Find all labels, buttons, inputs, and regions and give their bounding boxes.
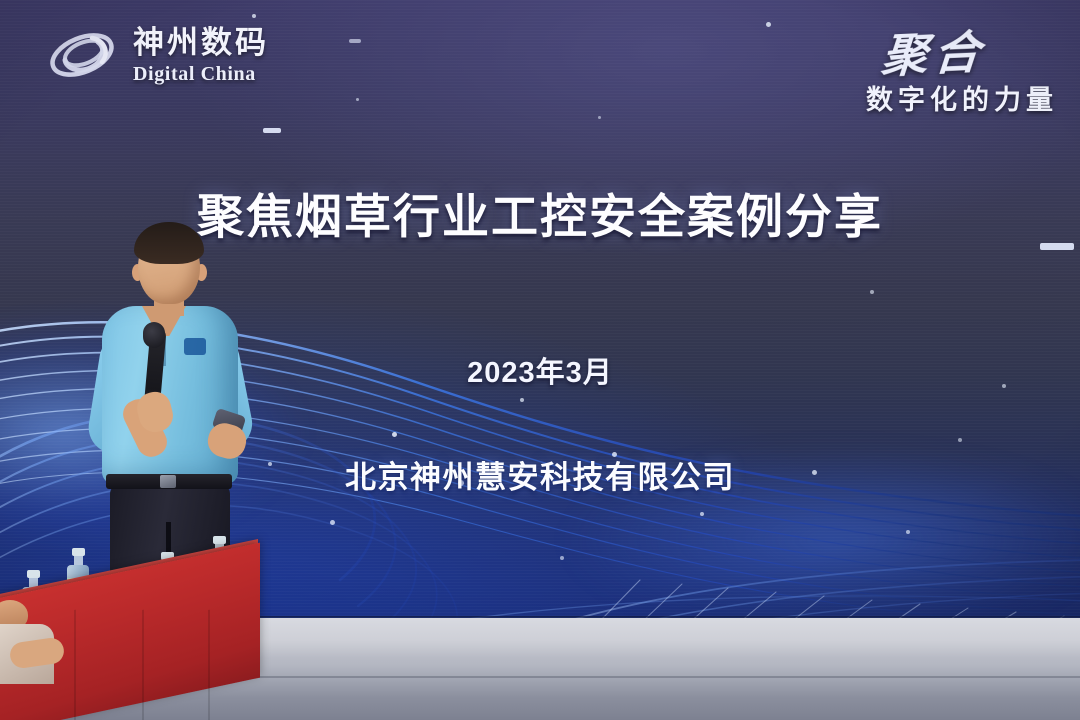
brand-name-cn: 神州数码: [133, 27, 269, 58]
wall-light-strip: [349, 39, 361, 43]
wall-light-strip: [263, 128, 281, 133]
presenter-belt-buckle: [160, 475, 176, 488]
bottle-cap: [27, 570, 40, 578]
digital-china-swirl-icon: [46, 22, 122, 88]
bokeh-particle: [598, 116, 601, 119]
bokeh-particle: [252, 14, 256, 18]
table-cloth-fold: [142, 610, 144, 720]
conference-stage-photo: 神州数码 Digital China 聚合 数字化的力量 聚焦烟草行业工控安全案…: [0, 0, 1080, 720]
bottle-cap: [72, 548, 85, 556]
seated-attendee: [0, 600, 56, 720]
bottle-cap: [213, 536, 226, 544]
event-calligraphy: 聚合: [879, 16, 989, 86]
event-logo: 聚合 数字化的力量: [866, 18, 1058, 117]
digital-china-logo: 神州数码 Digital China: [46, 22, 269, 88]
bokeh-particle: [356, 98, 359, 101]
microphone-head: [143, 322, 165, 348]
table-cloth-fold: [74, 610, 76, 720]
table-cloth-fold: [208, 610, 210, 720]
presenter-hair: [134, 222, 204, 264]
digital-china-wordmark: 神州数码 Digital China: [133, 27, 269, 84]
bottle-neck: [74, 556, 83, 565]
brand-name-en: Digital China: [133, 64, 269, 84]
bokeh-particle: [766, 22, 771, 27]
presenter-shirt-logo: [184, 338, 206, 355]
